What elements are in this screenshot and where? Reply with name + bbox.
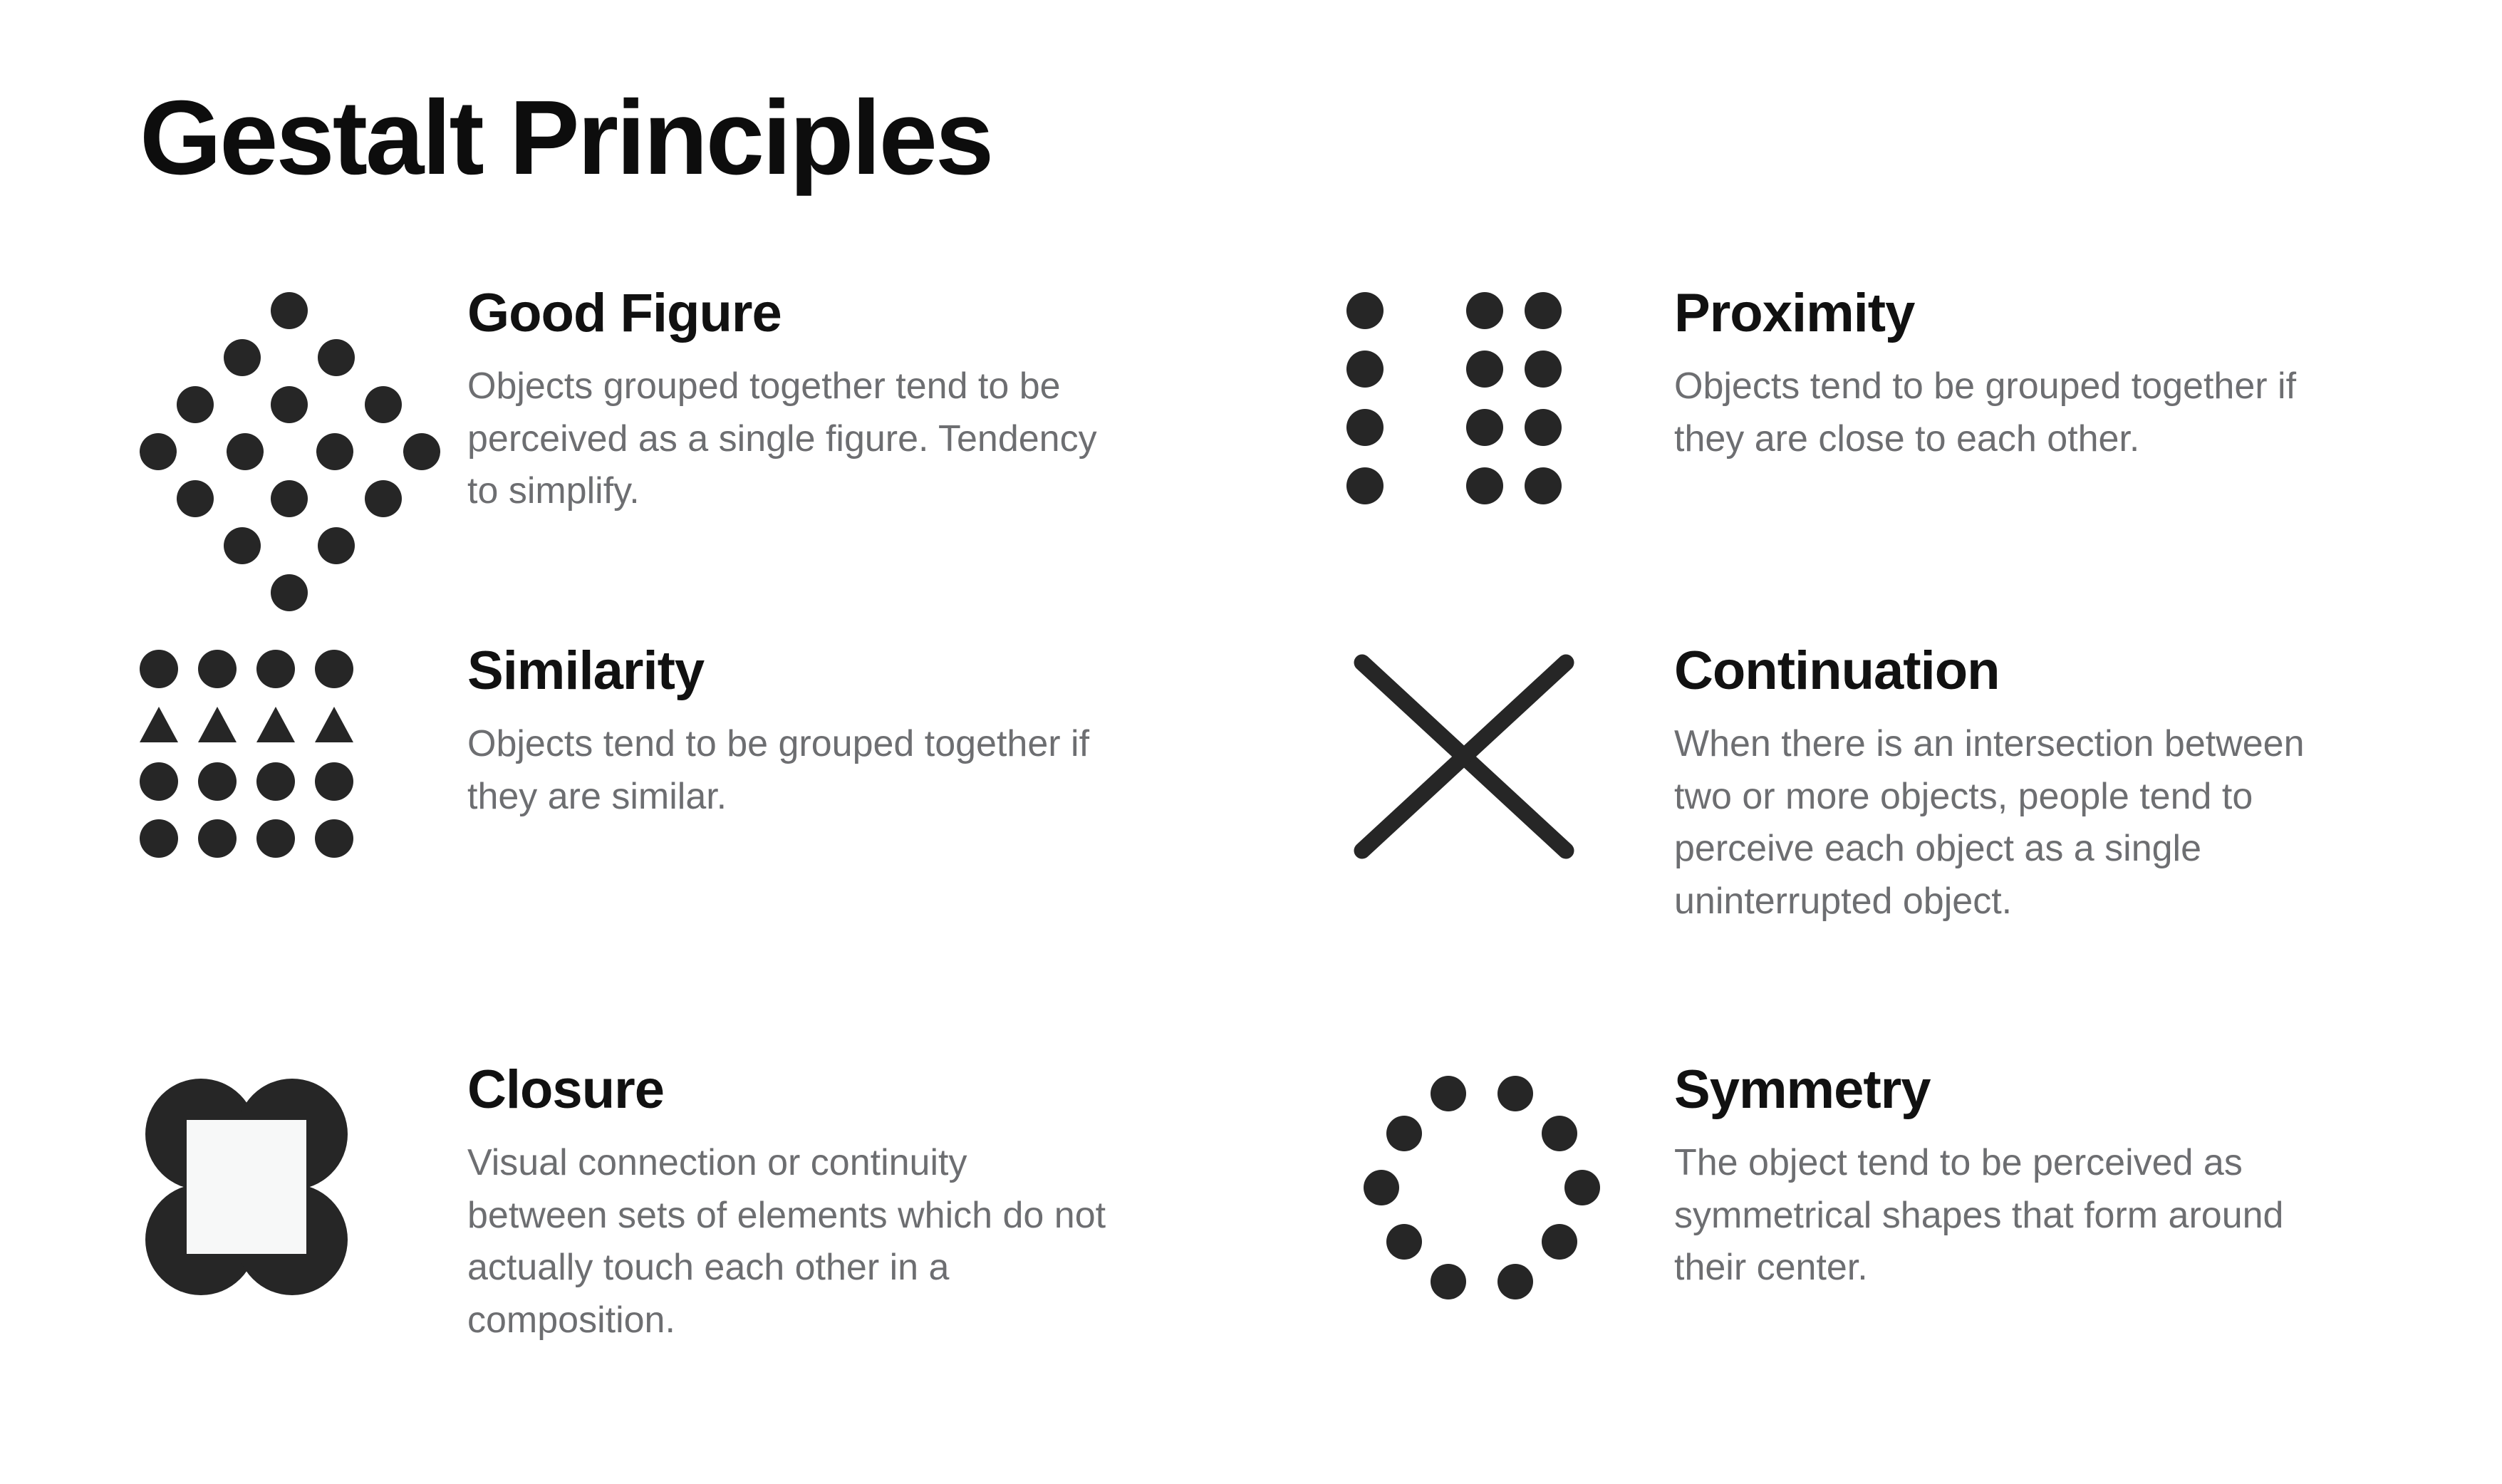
principle-description-similarity: Objects tend to be grouped together if t… xyxy=(467,718,1109,824)
principle-title-symmetry: Symmetry xyxy=(1674,1062,2486,1119)
grouped-dot-columns-icon xyxy=(1346,292,1589,506)
icon-slot-continuation xyxy=(1346,643,1674,863)
principle-description-symmetry: The object tend to be perceived as symme… xyxy=(1674,1137,2330,1294)
text-slot-closure: Closure Visual connection or continuity … xyxy=(467,1062,1251,1347)
text-slot-good-figure: Good Figure Objects grouped together ten… xyxy=(467,285,1251,518)
principle-description-proximity: Objects tend to be grouped together if t… xyxy=(1674,360,2330,466)
principle-title-proximity: Proximity xyxy=(1674,285,2486,342)
text-slot-symmetry: Symmetry The object tend to be perceived… xyxy=(1674,1062,2486,1294)
crossing-lines-x-icon xyxy=(1346,650,1582,863)
principle-card-proximity: Proximity Objects tend to be grouped tog… xyxy=(1346,285,2486,506)
principle-description-good-figure: Objects grouped together tend to be perc… xyxy=(467,360,1109,518)
page-title: Gestalt Principles xyxy=(140,85,992,191)
mirrored-dot-ring-icon xyxy=(1346,1069,1617,1311)
gestalt-principles-poster: Gestalt Principles xyxy=(0,0,2502,1484)
icon-slot-good-figure xyxy=(140,285,467,584)
principle-description-closure: Visual connection or continuity between … xyxy=(467,1137,1109,1347)
principle-title-continuation: Continuation xyxy=(1674,643,2486,700)
principle-description-continuation: When there is an intersection between tw… xyxy=(1674,718,2330,928)
circle-triangle-grid-icon xyxy=(140,650,353,863)
text-slot-proximity: Proximity Objects tend to be grouped tog… xyxy=(1674,285,2486,465)
principle-title-closure: Closure xyxy=(467,1062,1251,1119)
text-slot-continuation: Continuation When there is an intersecti… xyxy=(1674,643,2486,928)
icon-slot-similarity xyxy=(140,643,467,863)
kanizsa-square-icon xyxy=(140,1069,353,1318)
principle-title-good-figure: Good Figure xyxy=(467,285,1251,342)
principle-card-good-figure: Good Figure Objects grouped together ten… xyxy=(140,285,1251,584)
icon-slot-symmetry xyxy=(1346,1062,1674,1311)
principle-card-closure: Closure Visual connection or continuity … xyxy=(140,1062,1251,1347)
diamond-dot-cluster-icon xyxy=(140,292,439,584)
principle-card-similarity: Similarity Objects tend to be grouped to… xyxy=(140,643,1251,863)
principle-card-symmetry: Symmetry The object tend to be perceived… xyxy=(1346,1062,2486,1311)
text-slot-similarity: Similarity Objects tend to be grouped to… xyxy=(467,643,1251,823)
principle-title-similarity: Similarity xyxy=(467,643,1251,700)
icon-slot-closure xyxy=(140,1062,467,1318)
principle-card-continuation: Continuation When there is an intersecti… xyxy=(1346,643,2486,928)
icon-slot-proximity xyxy=(1346,285,1674,506)
